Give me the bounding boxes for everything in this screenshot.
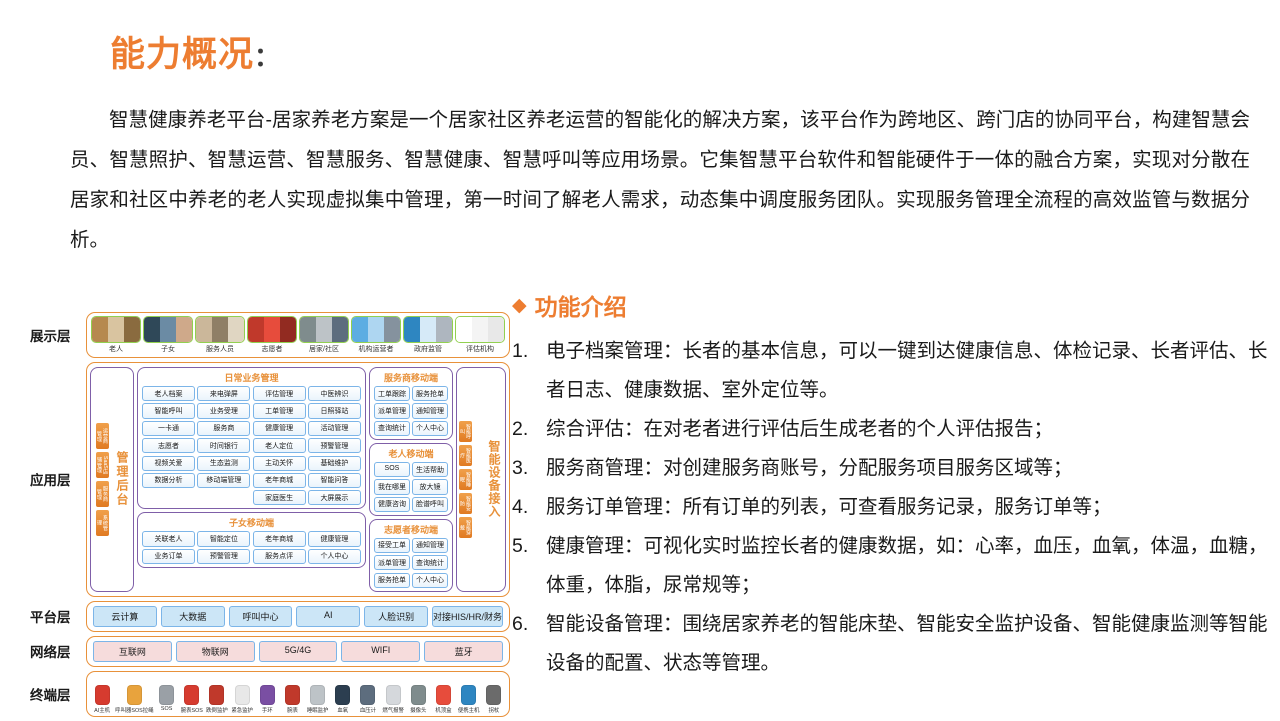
- list-item: 6. 智能设备管理：围绕居家养老的智能床垫、智能安全监护设备、智能健康监测等智能…: [512, 605, 1272, 683]
- persona-label: 服务人员: [206, 344, 234, 354]
- wristband-icon: [255, 675, 279, 705]
- terminal-device-item: 腕表: [280, 675, 304, 714]
- persona-label: 老人: [109, 344, 123, 354]
- terminal-device-label: 腕表SOS: [181, 706, 203, 714]
- terminal-device-item: AI主机: [90, 675, 114, 714]
- module-cell[interactable]: 通知管理: [412, 403, 448, 418]
- oximeter-icon: [331, 675, 355, 705]
- persona-label: 评估机构: [466, 344, 494, 354]
- layer-label-terminal: 终端层: [30, 671, 86, 717]
- terminal-device-item: 摄像头: [406, 675, 430, 714]
- terminal-layer-row: 终端层 AI主机呼叫器SOS拉绳SOS腕表SOS跌倒监护紧急监护手环腕表睡眠监护…: [30, 671, 510, 717]
- module-cell[interactable]: 活动管理: [308, 421, 361, 436]
- volunteer-mobile-grid: 接受工单通知管理派单管理查询统计服务抢单个人中心: [374, 538, 448, 588]
- terminal-layer-box: AI主机呼叫器SOS拉绳SOS腕表SOS跌倒监护紧急监护手环腕表睡眠监护血氧血压…: [86, 671, 510, 717]
- module-cell[interactable]: 智能问答: [308, 473, 361, 488]
- list-item-number: 1.: [512, 332, 546, 371]
- terminal-device-label: 手环: [262, 706, 273, 714]
- platform-capability-chip[interactable]: 云计算: [93, 606, 157, 627]
- persona-item: 服务人员: [195, 316, 245, 354]
- module-cell[interactable]: 工单跟踪: [374, 386, 410, 401]
- module-cell[interactable]: 老年商城: [253, 531, 306, 546]
- page-title: 能力概况：: [110, 26, 281, 77]
- module-cell[interactable]: 志愿者: [142, 438, 195, 453]
- module-cell[interactable]: 主动关怀: [253, 456, 306, 471]
- walking-stick-icon: [482, 675, 506, 705]
- module-cell[interactable]: 大屏展示: [308, 490, 361, 505]
- list-item-text: 智能设备管理：围绕居家养老的智能床垫、智能安全监护设备、智能健康监测等智能设备的…: [546, 605, 1272, 683]
- module-cell[interactable]: 一卡通: [142, 421, 195, 436]
- page-title-text: 能力概况: [110, 35, 254, 74]
- module-cell[interactable]: 查询统计: [374, 421, 410, 436]
- module-cell[interactable]: 基础维护: [308, 456, 361, 471]
- network-layer-row: 网络层 互联网物联网5G/4GWIFI蓝牙: [30, 636, 510, 667]
- platform-capability-chip[interactable]: 人脸识别: [364, 606, 428, 627]
- terminal-device-item: 便携主机: [457, 675, 481, 714]
- terminal-device-label: 燃气报警: [382, 706, 404, 714]
- terminal-device-label: 血压计: [360, 706, 376, 714]
- module-cell[interactable]: 健康管理: [308, 531, 361, 546]
- network-layer-box: 互联网物联网5G/4GWIFI蓝牙: [86, 636, 510, 667]
- device-access-title: 智能设备接入: [474, 440, 503, 518]
- platform-capability-chip[interactable]: 大数据: [161, 606, 225, 627]
- module-cell[interactable]: 接受工单: [374, 538, 410, 553]
- network-technology-chip[interactable]: WIFI: [341, 641, 420, 662]
- persona-label: 机构运营者: [359, 344, 394, 354]
- network-technology-chip[interactable]: 互联网: [93, 641, 172, 662]
- function-list-section: ◆ 功能介绍 1. 电子档案管理：长者的基本信息，可以一键到达健康信息、体检记录…: [512, 288, 1272, 683]
- persona-photo: [403, 316, 453, 343]
- module-cell[interactable]: 智能定位: [197, 531, 250, 546]
- blood-pressure-icon: [356, 675, 380, 705]
- persona-label: 政府监管: [414, 344, 442, 354]
- persona-photo: [91, 316, 141, 343]
- network-technology-chip[interactable]: 蓝牙: [424, 641, 503, 662]
- list-item-number: 5.: [512, 527, 546, 566]
- list-item-text: 服务商管理：对创建服务商账号，分配服务项目服务区域等；: [546, 449, 1272, 488]
- list-item-number: 6.: [512, 605, 546, 644]
- function-list-heading: ◆ 功能介绍: [512, 288, 1272, 322]
- terminal-device-label: 便携主机: [458, 706, 480, 714]
- module-cell[interactable]: SOS: [374, 462, 410, 477]
- pull-cord-icon: [115, 675, 153, 705]
- portable-host-icon: [457, 675, 481, 705]
- module-cell[interactable]: 个人中心: [412, 421, 448, 436]
- provider-mobile-panel: 服务商移动端 工单跟踪服务抢单派单管理通知管理查询统计个人中心: [369, 367, 453, 440]
- terminal-device-label: 睡眠监护: [307, 706, 329, 714]
- list-item-text: 电子档案管理：长者的基本信息，可以一键到达健康信息、体检记录、长者评估、长者日志…: [546, 332, 1272, 410]
- layer-label-network: 网络层: [30, 636, 86, 667]
- module-cell[interactable]: 健康咨询: [374, 497, 410, 512]
- device-access-chip[interactable]: 智能呼叫: [459, 421, 472, 442]
- admin-console-chip[interactable]: 系统管理: [96, 510, 109, 536]
- terminal-device-label: 摄像头: [410, 706, 426, 714]
- persona-label: 子女: [161, 344, 175, 354]
- device-access-chip[interactable]: 智能睡眠: [459, 469, 472, 490]
- module-cell[interactable]: 数据分析: [142, 473, 195, 488]
- persona-photo: [195, 316, 245, 343]
- terminal-device-item: 拐杖: [482, 675, 506, 714]
- device-access-chips: 智能呼叫智能医疗智能睡眠智能安防智能穿戴: [459, 421, 472, 538]
- list-item-text: 综合评估：在对老者进行评估后生成老者的个人评估报告；: [546, 410, 1272, 449]
- gas-alarm-icon: [381, 675, 405, 705]
- network-technology-chip[interactable]: 物联网: [176, 641, 255, 662]
- module-cell[interactable]: 关联老人: [142, 531, 195, 546]
- persona-item: 子女: [143, 316, 193, 354]
- persona-label: 志愿者: [262, 344, 283, 354]
- application-center-column: 日常业务管理 老人档案来电弹屏评估管理中医辨识智能呼叫业务受理工单管理日照驿站一…: [137, 367, 366, 592]
- sos-pendant-icon: [155, 675, 179, 705]
- admin-console-chip[interactable]: 服务商管理: [96, 481, 109, 507]
- module-cell[interactable]: 脸谱呼叫: [412, 497, 448, 512]
- persona-item: 机构运营者: [351, 316, 401, 354]
- module-cell[interactable]: 评估管理: [253, 386, 306, 401]
- application-layer-box: 运营商管理SaaS店铺管理服务商管理系统管理 管理后台 日常业务管理 老人档案来…: [86, 362, 510, 597]
- children-mobile-grid: 关联老人智能定位老年商城健康管理业务订单预警管理服务点评个人中心: [142, 531, 361, 564]
- module-cell[interactable]: 个人中心: [412, 573, 448, 588]
- daily-business-grid: 老人档案来电弹屏评估管理中医辨识智能呼叫业务受理工单管理日照驿站一卡通服务商健康…: [142, 386, 361, 505]
- module-cell[interactable]: 来电弹屏: [197, 386, 250, 401]
- persona-photo: [299, 316, 349, 343]
- platform-layer-row: 平台层 云计算大数据呼叫中心AI人脸识别对接HIS/HR/财务: [30, 601, 510, 632]
- terminal-device-label: 紧急监护: [231, 706, 253, 714]
- set-top-box-icon: [431, 675, 455, 705]
- terminal-device-label: 血氧: [337, 706, 348, 714]
- admin-console-chip[interactable]: SaaS店铺管理: [96, 452, 109, 478]
- page-title-colon: ：: [254, 42, 281, 72]
- daily-business-panel: 日常业务管理 老人档案来电弹屏评估管理中医辨识智能呼叫业务受理工单管理日照驿站一…: [137, 367, 366, 509]
- module-cell[interactable]: 业务受理: [197, 403, 250, 418]
- list-item: 4. 服务订单管理：所有订单的列表，可查看服务记录，服务订单等；: [512, 488, 1272, 527]
- module-cell-empty: [142, 490, 195, 505]
- list-item-number: 4.: [512, 488, 546, 527]
- module-cell[interactable]: 服务点评: [253, 549, 306, 564]
- admin-console-chips: 运营商管理SaaS店铺管理服务商管理系统管理: [93, 423, 112, 536]
- list-item: 3. 服务商管理：对创建服务商账号，分配服务项目服务区域等；: [512, 449, 1272, 488]
- persona-item: 老人: [91, 316, 141, 354]
- module-cell[interactable]: 放大镜: [412, 479, 448, 494]
- module-cell[interactable]: 服务抢单: [374, 573, 410, 588]
- terminal-device-label: 机顶盒: [435, 706, 451, 714]
- terminal-device-label: 跌倒监护: [206, 706, 228, 714]
- module-cell[interactable]: 派单管理: [374, 403, 410, 418]
- module-cell[interactable]: 预警管理: [308, 438, 361, 453]
- module-cell[interactable]: 生活帮助: [412, 462, 448, 477]
- layer-label-platform: 平台层: [30, 601, 86, 632]
- persona-photo: [247, 316, 297, 343]
- module-cell[interactable]: 家庭医生: [253, 490, 306, 505]
- terminal-device-item: 跌倒监护: [205, 675, 229, 714]
- smartwatch-icon: [280, 675, 304, 705]
- elder-mobile-grid: SOS生活帮助我在哪里放大镜健康咨询脸谱呼叫: [374, 462, 448, 512]
- device-access-chip[interactable]: 智能安防: [459, 493, 472, 514]
- network-technology-chip[interactable]: 5G/4G: [259, 641, 338, 662]
- layer-label-presentation: 展示层: [30, 312, 86, 358]
- module-cell[interactable]: 老人定位: [253, 438, 306, 453]
- device-access-chip[interactable]: 智能穿戴: [459, 517, 472, 538]
- module-cell[interactable]: 查询统计: [412, 555, 448, 570]
- module-cell[interactable]: 时间银行: [197, 438, 250, 453]
- terminal-device-label: 腕表: [287, 706, 298, 714]
- persona-item: 志愿者: [247, 316, 297, 354]
- persona-item: 政府监管: [403, 316, 453, 354]
- module-cell[interactable]: 视频关爱: [142, 456, 195, 471]
- module-cell[interactable]: 个人中心: [308, 549, 361, 564]
- terminal-device-item: 机顶盒: [431, 675, 455, 714]
- elder-mobile-title: 老人移动端: [374, 447, 448, 460]
- sleep-monitor-icon: [306, 675, 330, 705]
- architecture-diagram: 展示层 老人子女服务人员志愿者居家/社区机构运营者政府监管评估机构 应用层 运营…: [30, 312, 510, 721]
- module-cell[interactable]: 移动端管理: [197, 473, 250, 488]
- list-item: 1. 电子档案管理：长者的基本信息，可以一键到达健康信息、体检记录、长者评估、长…: [512, 332, 1272, 410]
- list-item-number: 2.: [512, 410, 546, 449]
- presentation-layer-row: 展示层 老人子女服务人员志愿者居家/社区机构运营者政府监管评估机构: [30, 312, 510, 358]
- mobile-apps-column: 服务商移动端 工单跟踪服务抢单派单管理通知管理查询统计个人中心 老人移动端 SO…: [369, 367, 453, 592]
- platform-layer-box: 云计算大数据呼叫中心AI人脸识别对接HIS/HR/财务: [86, 601, 510, 632]
- terminal-device-item: SOS: [155, 675, 179, 714]
- device-access-panel: 智能呼叫智能医疗智能睡眠智能安防智能穿戴 智能设备接入: [456, 367, 506, 592]
- application-layer-row: 应用层 运营商管理SaaS店铺管理服务商管理系统管理 管理后台 日常业务管理 老…: [30, 362, 510, 597]
- module-cell-empty: [197, 490, 250, 505]
- ai-host-icon: [90, 675, 114, 705]
- persona-item: 居家/社区: [299, 316, 349, 354]
- module-cell[interactable]: 智能呼叫: [142, 403, 195, 418]
- module-cell[interactable]: 预警管理: [197, 549, 250, 564]
- provider-mobile-grid: 工单跟踪服务抢单派单管理通知管理查询统计个人中心: [374, 386, 448, 436]
- admin-console-chip[interactable]: 运营商管理: [96, 423, 109, 449]
- terminal-device-item: 紧急监护: [230, 675, 254, 714]
- list-item: 2. 综合评估：在对老者进行评估后生成老者的个人评估报告；: [512, 410, 1272, 449]
- terminal-device-item: 呼叫器SOS拉绳: [115, 675, 153, 714]
- admin-console-panel: 运营商管理SaaS店铺管理服务商管理系统管理 管理后台: [90, 367, 134, 592]
- terminal-device-item: 血压计: [356, 675, 380, 714]
- sos-button-icon: [180, 675, 204, 705]
- children-mobile-panel: 子女移动端 关联老人智能定位老年商城健康管理业务订单预警管理服务点评个人中心: [137, 512, 366, 568]
- provider-mobile-title: 服务商移动端: [374, 371, 448, 384]
- terminal-device-item: 手环: [255, 675, 279, 714]
- persona-photo: [143, 316, 193, 343]
- list-item-text: 健康管理：可视化实时监控长者的健康数据，如：心率，血压，血氧，体温，血糖，体重，…: [546, 527, 1272, 605]
- list-item: 5. 健康管理：可视化实时监控长者的健康数据，如：心率，血压，血氧，体温，血糖，…: [512, 527, 1272, 605]
- module-cell[interactable]: 通知管理: [412, 538, 448, 553]
- emergency-monitor-icon: [230, 675, 254, 705]
- intro-paragraph: 智慧健康养老平台-居家养老方案是一个居家社区养老运营的智能化的解决方案，该平台作…: [70, 100, 1250, 260]
- platform-capability-chip[interactable]: AI: [296, 606, 360, 627]
- fall-monitor-icon: [205, 675, 229, 705]
- list-item-number: 3.: [512, 449, 546, 488]
- persona-photo: [455, 316, 505, 343]
- terminal-device-label: 拐杖: [488, 706, 499, 714]
- list-item-text: 服务订单管理：所有订单的列表，可查看服务记录，服务订单等；: [546, 488, 1272, 527]
- camera-icon: [406, 675, 430, 705]
- terminal-device-item: 燃气报警: [381, 675, 405, 714]
- volunteer-mobile-title: 志愿者移动端: [374, 523, 448, 536]
- terminal-device-item: 腕表SOS: [180, 675, 204, 714]
- module-cell[interactable]: 工单管理: [253, 403, 306, 418]
- diamond-icon: ◆: [512, 294, 527, 317]
- module-cell[interactable]: 服务抢单: [412, 386, 448, 401]
- module-cell[interactable]: 老人档案: [142, 386, 195, 401]
- module-cell[interactable]: 服务商: [197, 421, 250, 436]
- module-cell[interactable]: 中医辨识: [308, 386, 361, 401]
- module-cell[interactable]: 我在哪里: [374, 479, 410, 494]
- elder-mobile-panel: 老人移动端 SOS生活帮助我在哪里放大镜健康咨询脸谱呼叫: [369, 443, 453, 516]
- function-heading-text: 功能介绍: [535, 288, 627, 322]
- module-cell[interactable]: 老年商城: [253, 473, 306, 488]
- persona-photo: [351, 316, 401, 343]
- persona-label: 居家/社区: [309, 344, 339, 354]
- volunteer-mobile-panel: 志愿者移动端 接受工单通知管理派单管理查询统计服务抢单个人中心: [369, 519, 453, 592]
- device-access-chip[interactable]: 智能医疗: [459, 445, 472, 466]
- terminal-device-item: 血氧: [331, 675, 355, 714]
- admin-console-title: 管理后台: [114, 451, 131, 507]
- terminal-device-label: SOS: [161, 706, 172, 712]
- daily-business-title: 日常业务管理: [142, 371, 361, 384]
- module-cell[interactable]: 生态监测: [197, 456, 250, 471]
- presentation-layer-box: 老人子女服务人员志愿者居家/社区机构运营者政府监管评估机构: [86, 312, 510, 358]
- platform-capability-chip[interactable]: 对接HIS/HR/财务: [432, 606, 503, 627]
- children-mobile-title: 子女移动端: [142, 516, 361, 529]
- module-cell[interactable]: 业务订单: [142, 549, 195, 564]
- terminal-device-item: 睡眠监护: [306, 675, 330, 714]
- persona-item: 评估机构: [455, 316, 505, 354]
- platform-capability-chip[interactable]: 呼叫中心: [229, 606, 293, 627]
- module-cell[interactable]: 日照驿站: [308, 403, 361, 418]
- module-cell[interactable]: 派单管理: [374, 555, 410, 570]
- terminal-device-label: 呼叫器SOS拉绳: [115, 706, 153, 714]
- terminal-device-label: AI主机: [94, 706, 110, 714]
- module-cell[interactable]: 健康管理: [253, 421, 306, 436]
- layer-label-application: 应用层: [30, 362, 86, 597]
